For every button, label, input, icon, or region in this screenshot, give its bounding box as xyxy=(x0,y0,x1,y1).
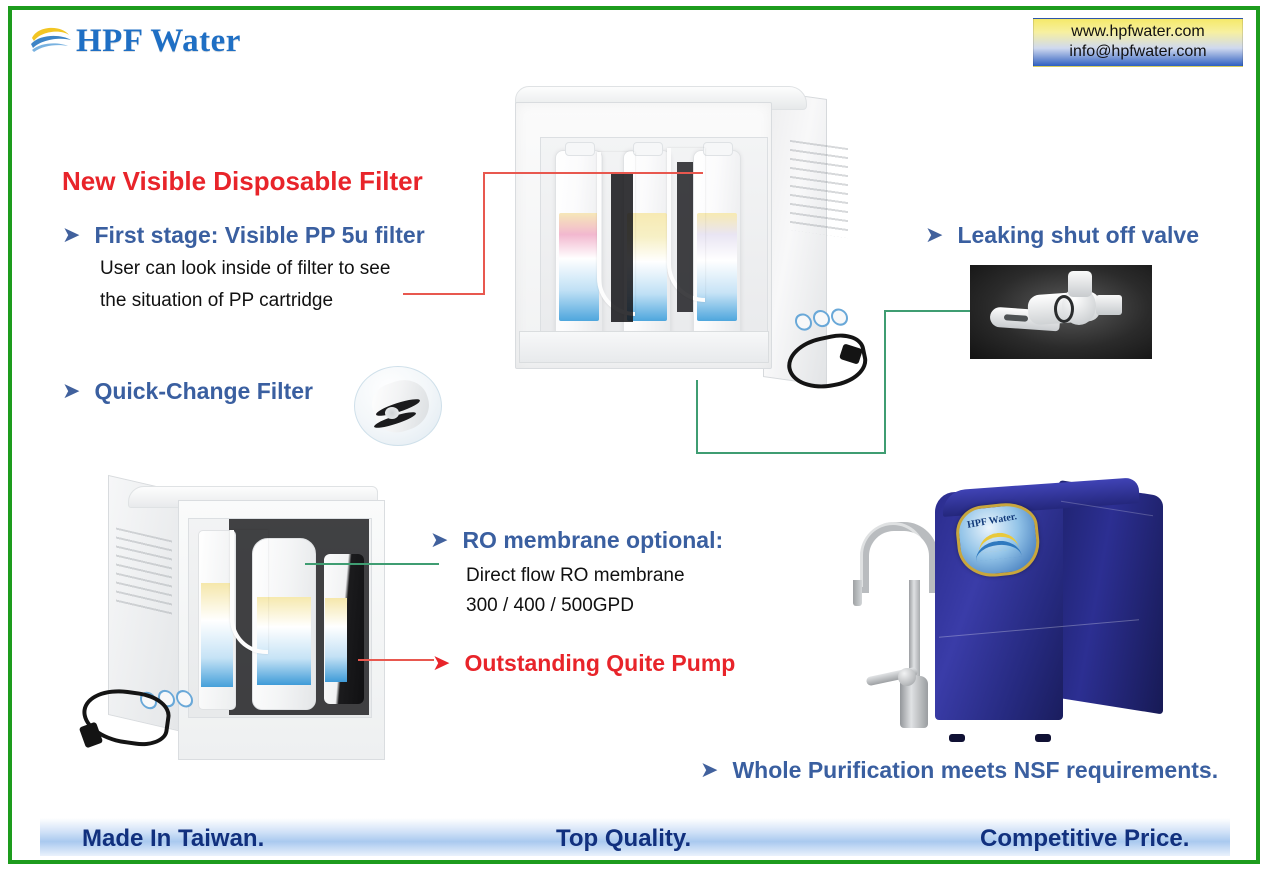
fitting-2 xyxy=(813,309,830,328)
filter-label-1 xyxy=(559,213,599,321)
brand-name: HPF Water xyxy=(76,25,241,58)
callout-line-ppfilter-h2 xyxy=(483,172,703,174)
filter-cartridge-1 xyxy=(555,150,603,340)
valve-outlet-port xyxy=(1096,295,1122,315)
ventilation-holes xyxy=(116,528,172,621)
bullet-quick-change: ➤ Quick-Change Filter xyxy=(62,378,313,405)
internal-shadow-1 xyxy=(611,172,633,322)
arrow-bullet-icon: ➤ xyxy=(700,759,718,781)
bullet-nsf-label: Whole Purification meets NSF requirement… xyxy=(732,757,1218,784)
faucet-gooseneck xyxy=(860,522,938,593)
cabinet-base xyxy=(519,331,769,363)
chrome-faucet-photo xyxy=(850,522,936,732)
callout-line-ro-membrane xyxy=(305,563,439,565)
quiet-pump xyxy=(324,554,364,704)
bullet-leaking-valve: ➤ Leaking shut off valve xyxy=(925,222,1199,249)
bullet-nsf: ➤ Whole Purification meets NSF requireme… xyxy=(700,757,1218,784)
footer-bar: Made In Taiwan. Top Quality. Competitive… xyxy=(40,818,1230,856)
arrow-bullet-icon: ➤ xyxy=(430,529,448,551)
bullet-ro-membrane: ➤ RO membrane optional: xyxy=(430,527,723,554)
callout-line-valve-v2 xyxy=(884,310,886,454)
filter-cap-1 xyxy=(565,142,595,156)
valve-stem xyxy=(1068,271,1092,297)
ro-membrane-description-line2: 300 / 400 / 500GPD xyxy=(466,591,634,621)
arrow-bullet-icon: ➤ xyxy=(62,224,80,246)
unit-foot-right xyxy=(1035,734,1051,742)
cabinet-front-panel xyxy=(515,102,772,369)
brand-logo: HPF Water xyxy=(28,18,241,64)
callout-line-ppfilter-v xyxy=(483,172,485,294)
first-stage-description-line2: the situation of PP cartridge xyxy=(100,286,333,316)
fitting-3 xyxy=(176,688,193,709)
water-tube xyxy=(230,530,268,654)
callout-line-ppfilter-h1 xyxy=(403,293,485,295)
leak-shutoff-valve-photo xyxy=(970,265,1152,359)
callout-line-pump xyxy=(358,659,434,661)
slide-canvas: HPF Water www.hpfwater.com info@hpfwater… xyxy=(0,0,1268,876)
faucet-spout xyxy=(853,580,862,606)
pump-side-label xyxy=(325,598,347,682)
ro-system-side-view-photo xyxy=(80,478,410,808)
bullet-ro-membrane-label: RO membrane optional: xyxy=(462,527,723,554)
filter-label-front xyxy=(201,583,233,687)
cap-center-hole xyxy=(385,407,399,419)
footer-top-quality: Top Quality. xyxy=(556,825,691,853)
blue-ro-unit-photo: HPF Water. xyxy=(935,478,1167,736)
callout-line-valve-h2 xyxy=(884,310,972,312)
fitting-3 xyxy=(831,307,848,326)
website-text[interactable]: www.hpfwater.com xyxy=(1042,22,1234,42)
bullet-first-stage-label: First stage: Visible PP 5u filter xyxy=(94,222,424,249)
arrow-bullet-icon: ➤ xyxy=(925,224,943,246)
feature-heading-disposable-filter: New Visible Disposable Filter xyxy=(62,166,423,197)
sun-wave-logo-icon xyxy=(28,21,74,61)
email-text[interactable]: info@hpfwater.com xyxy=(1042,42,1234,62)
bullet-first-stage: ➤ First stage: Visible PP 5u filter xyxy=(62,222,425,249)
ro-membrane-description-line1: Direct flow RO membrane xyxy=(466,561,685,591)
contact-info-box: www.hpfwater.com info@hpfwater.com xyxy=(1033,18,1243,67)
ventilation-holes xyxy=(790,140,848,238)
arrow-bullet-icon: ➤ xyxy=(62,380,80,402)
unit-foot-left xyxy=(949,734,965,742)
valve-seal-ring xyxy=(1054,295,1074,323)
fitting-1 xyxy=(795,312,812,331)
quick-change-filter-cap-photo xyxy=(354,366,442,446)
filter-cap-3 xyxy=(703,142,733,156)
bullet-quiet-pump: ➤ Outstanding Quite Pump xyxy=(432,650,735,677)
arrow-bullet-icon: ➤ xyxy=(432,652,450,674)
callout-line-valve-v1 xyxy=(696,380,698,454)
callout-line-valve-h1 xyxy=(696,452,886,454)
footer-competitive-price: Competitive Price. xyxy=(980,825,1189,853)
faucet-knob xyxy=(898,668,916,686)
unit-badge-text: HPF Water. xyxy=(966,511,1017,531)
bullet-quick-change-label: Quick-Change Filter xyxy=(94,378,313,405)
bullet-quiet-pump-label: Outstanding Quite Pump xyxy=(464,650,735,677)
filter-cap-2 xyxy=(633,142,663,156)
internal-shadow-2 xyxy=(677,162,693,312)
first-stage-description-line1: User can look inside of filter to see xyxy=(100,254,390,284)
bullet-leaking-valve-label: Leaking shut off valve xyxy=(957,222,1199,249)
cabinet-cavity xyxy=(540,137,768,351)
footer-made-in-taiwan: Made In Taiwan. xyxy=(82,825,264,853)
ro-system-back-view-photo xyxy=(505,84,865,394)
